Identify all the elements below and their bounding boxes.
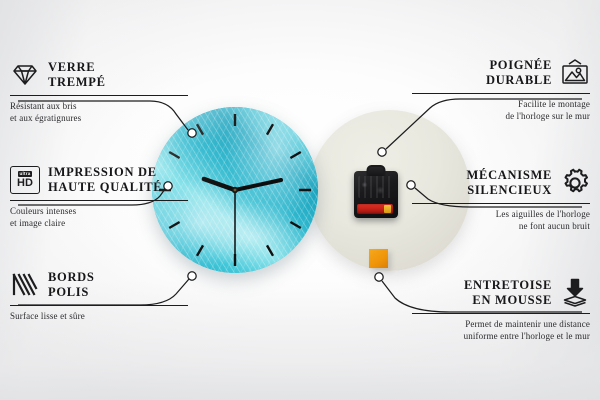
feature-title-line1: IMPRESSION DE <box>48 165 162 180</box>
feature-description: Facilite le montage de l'horloge sur le … <box>412 98 590 122</box>
feature-header: VERRE TREMPÉ <box>10 58 188 92</box>
feature-rule <box>412 313 590 314</box>
feature-rule <box>412 93 590 94</box>
infographic-canvas: VERRE TREMPÉ Résistant aux bris et aux é… <box>0 0 600 400</box>
feature-desc-line1: Couleurs intenses <box>10 205 188 217</box>
down-arrow-foam-icon <box>560 278 590 308</box>
feature-title: POIGNÉE DURABLE <box>486 58 552 88</box>
feature-description: Permet de maintenir une distance uniform… <box>412 318 590 342</box>
feature-tempered-glass: VERRE TREMPÉ Résistant aux bris et aux é… <box>10 58 188 124</box>
feature-durable-hanger: POIGNÉE DURABLE Facilite le montage de l… <box>412 56 590 122</box>
feature-description: Surface lisse et sûre <box>10 310 188 322</box>
feature-title: IMPRESSION DE HAUTE QUALITÉ <box>48 165 162 195</box>
feature-foam-spacer: ENTRETOISE EN MOUSSE Permet de maintenir… <box>412 276 590 342</box>
diagonal-lines-icon <box>10 270 40 300</box>
feature-title: BORDS POLIS <box>48 270 95 300</box>
hd-badge-small-text: ultra <box>18 171 33 177</box>
feature-desc-line2: et image claire <box>10 217 188 229</box>
feature-desc-line2: ne font aucun bruit <box>412 220 590 232</box>
feature-title: VERRE TREMPÉ <box>48 60 106 90</box>
feature-rule <box>10 305 188 306</box>
feature-title-line1: VERRE <box>48 60 106 75</box>
feature-rule <box>412 203 590 204</box>
feature-title-line2: DURABLE <box>486 73 552 88</box>
foam-spacer-pad <box>369 249 388 268</box>
feature-description: Résistant aux bris et aux égratignures <box>10 100 188 124</box>
feature-desc-line2: de l'horloge sur le mur <box>412 110 590 122</box>
mechanism-detail <box>358 176 394 198</box>
hd-badge-large-text: HD <box>17 178 33 189</box>
feature-description: Couleurs intenses et image claire <box>10 205 188 229</box>
feature-high-quality-print: ultra HD IMPRESSION DE HAUTE QUALITÉ Cou… <box>10 163 188 229</box>
clock-mechanism <box>354 171 398 218</box>
hanger-tab-icon <box>367 165 386 176</box>
feature-desc-line2: uniforme entre l'horloge et le mur <box>412 330 590 342</box>
feature-rule <box>10 200 188 201</box>
gear-icon <box>560 168 590 198</box>
ultra-hd-icon: ultra HD <box>10 165 40 195</box>
feature-header: BORDS POLIS <box>10 268 188 302</box>
feature-desc-line1: Les aiguilles de l'horloge <box>412 208 590 220</box>
feature-header: ultra HD IMPRESSION DE HAUTE QUALITÉ <box>10 163 188 197</box>
feature-description: Les aiguilles de l'horloge ne font aucun… <box>412 208 590 232</box>
feature-polished-edges: BORDS POLIS Surface lisse et sûre <box>10 268 188 322</box>
hd-badge: ultra HD <box>10 166 40 194</box>
diamond-icon <box>10 60 40 90</box>
feature-desc-line1: Surface lisse et sûre <box>10 310 188 322</box>
feature-title: MÉCANISME SILENCIEUX <box>467 168 552 198</box>
feature-title-line1: MÉCANISME <box>467 168 552 183</box>
feature-title-line1: ENTRETOISE <box>464 278 552 293</box>
feature-title-line2: HAUTE QUALITÉ <box>48 180 162 195</box>
feature-title-line2: SILENCIEUX <box>467 183 552 198</box>
feature-desc-line1: Facilite le montage <box>412 98 590 110</box>
feature-title-line1: POIGNÉE <box>486 58 552 73</box>
feature-header: MÉCANISME SILENCIEUX <box>412 166 590 200</box>
feature-desc-line1: Permet de maintenir une distance <box>412 318 590 330</box>
feature-header: POIGNÉE DURABLE <box>412 56 590 90</box>
feature-silent-mechanism: MÉCANISME SILENCIEUX Les aiguilles de l'… <box>412 166 590 232</box>
feature-title-line2: EN MOUSSE <box>464 293 552 308</box>
feature-header: ENTRETOISE EN MOUSSE <box>412 276 590 310</box>
picture-frame-hanger-icon <box>560 58 590 88</box>
feature-desc-line1: Résistant aux bris <box>10 100 188 112</box>
feature-title-line2: TREMPÉ <box>48 75 106 90</box>
feature-title-line1: BORDS <box>48 270 95 285</box>
feature-desc-line2: et aux égratignures <box>10 112 188 124</box>
feature-title: ENTRETOISE EN MOUSSE <box>464 278 552 308</box>
feature-title-line2: POLIS <box>48 285 95 300</box>
battery <box>357 204 393 214</box>
feature-rule <box>10 95 188 96</box>
